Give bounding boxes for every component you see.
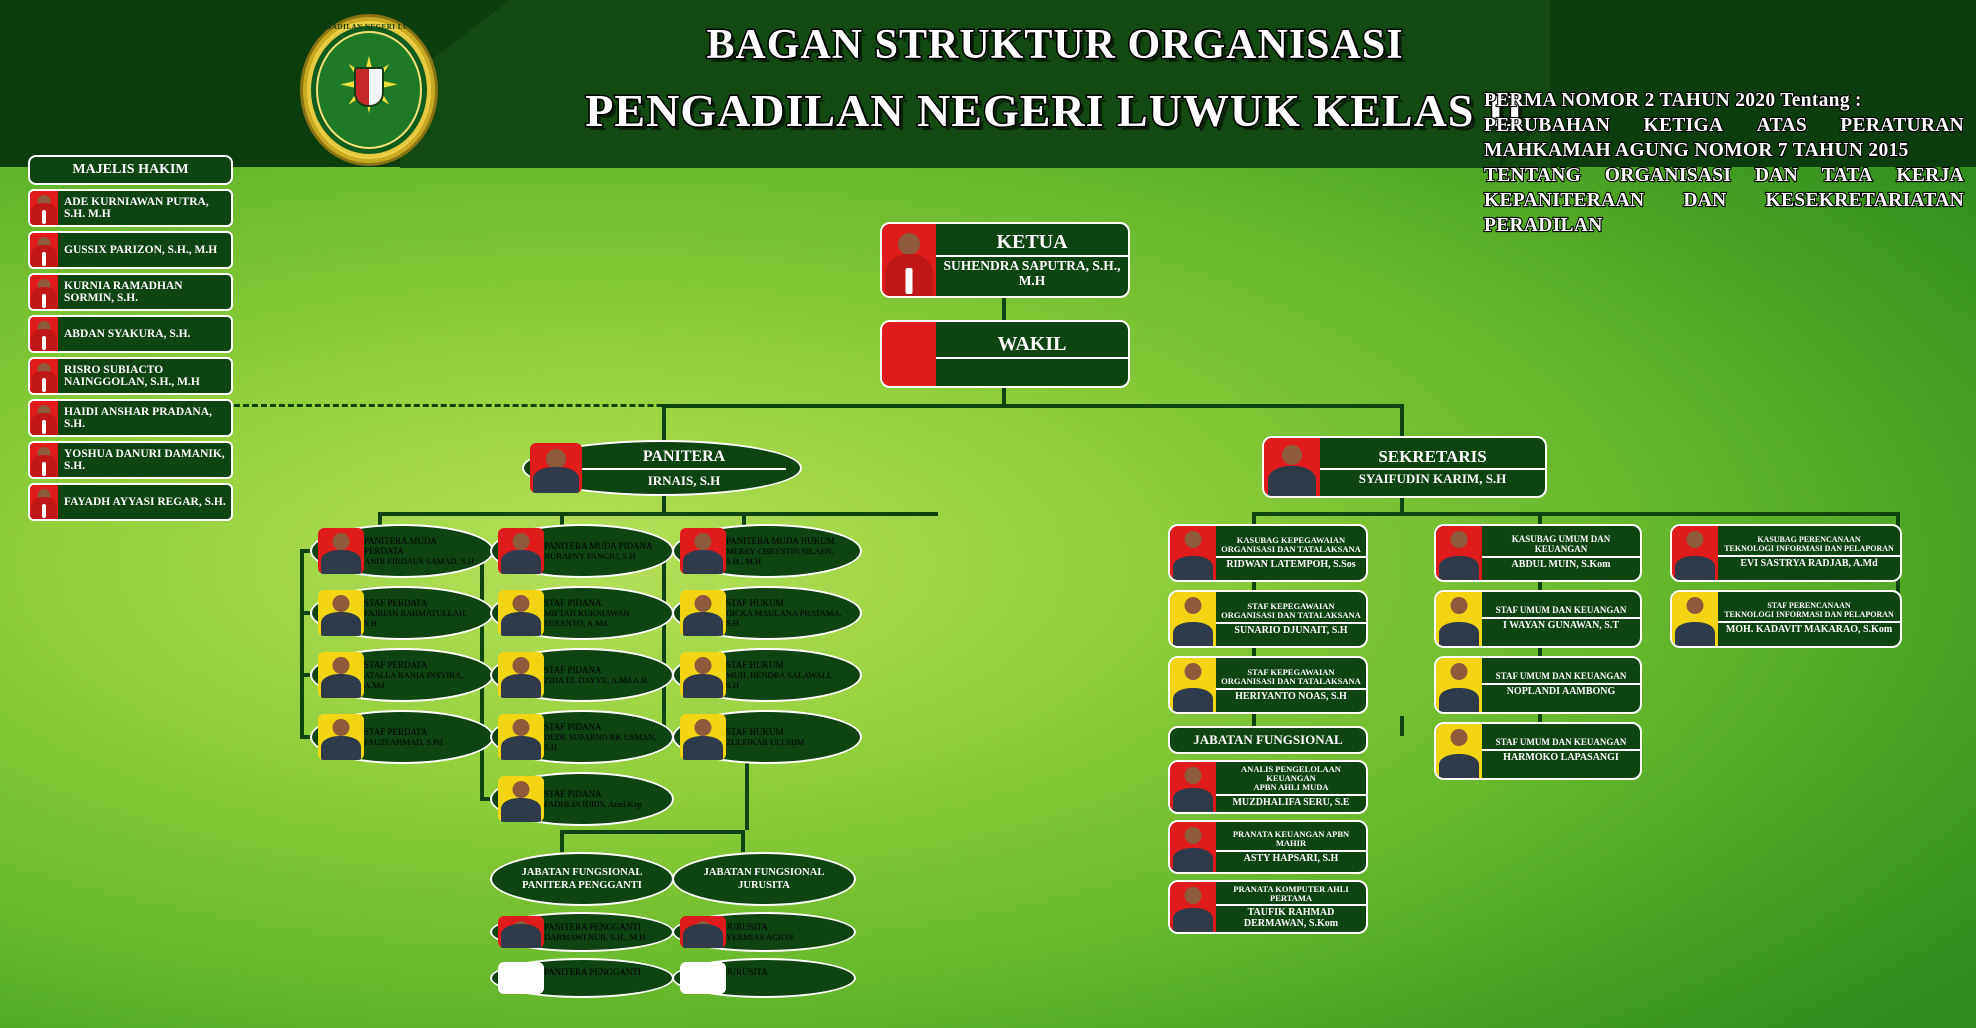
- perma-line-0: PERMA NOMOR 2 TAHUN 2020 Tentang :: [1484, 88, 1964, 113]
- node-name: SUNARIO DJUNAIT, S.H: [1216, 624, 1366, 639]
- node-kepegawaian[interactable]: STAF KEPEGAWAIANORGANISASI DAN TATALAKSA…: [1168, 590, 1368, 648]
- hakim-row[interactable]: FAYADH AYYASI REGAR, S.H.: [28, 483, 233, 521]
- node-umum[interactable]: STAF UMUM DAN KEUANGANHARMOKO LAPASANGI: [1434, 722, 1642, 780]
- ketua-photo: [882, 224, 936, 296]
- column-spine: [300, 551, 304, 737]
- person-photo: [318, 714, 364, 760]
- hakim-row[interactable]: GUSSIX PARIZON, S.H., M.H: [28, 231, 233, 269]
- node-name: FAUZI AHMAD, S.Pd: [364, 737, 478, 747]
- hakim-row[interactable]: ABDAN SYAKURA, S.H.: [28, 315, 233, 353]
- node-role: STAF PERDATA: [364, 727, 478, 737]
- person-photo: [1436, 658, 1482, 712]
- node-role: KASUBAG UMUM DAN KEUANGAN: [1482, 533, 1640, 558]
- node-name: NURAFNY PANGIU, S.H: [544, 551, 658, 561]
- node-role: STAF PIDANA: [544, 665, 658, 675]
- logo-top-text: PENGADILAN NEGERI LUWUK: [300, 23, 438, 31]
- line-to-panitera: [662, 404, 666, 440]
- person-photo: [498, 714, 544, 760]
- node-name: HARMOKO LAPASANGI: [1482, 751, 1640, 766]
- node-name: FAJRIAN RAHMATULLAH, S.H: [364, 608, 478, 628]
- perma-line-5: PERADILAN: [1484, 213, 1964, 238]
- perma-line-1: PERUBAHANKETIGAATASPERATURAN: [1484, 113, 1964, 138]
- node-role: STAF PIDANA: [544, 789, 658, 799]
- hakim-photo: [30, 317, 58, 351]
- node-role: STAF PERDATA: [364, 660, 478, 670]
- node-name: MIFTAH KURNIAWAN SUSANTO, A.Md.: [544, 608, 658, 628]
- jabatan-fungsional-jurusita-title: JABATAN FUNGSIONALJURUSITA: [704, 866, 825, 892]
- node-name: I WAYAN GUNAWAN, S.T: [1482, 619, 1640, 634]
- node-name: HERIYANTO NOAS, S.H: [1216, 690, 1366, 705]
- hakim-photo: [30, 443, 58, 477]
- person-photo: [1170, 592, 1216, 646]
- hakim-name: YOSHUA DANURI DAMANIK, S.H.: [58, 443, 231, 477]
- node-pidana[interactable]: STAF PIDANADEDE SUPARNO RK USMAN, S.H: [490, 710, 674, 764]
- jabatan-fungsional-header: JABATAN FUNGSIONAL: [1168, 726, 1368, 754]
- perma-regulation-text: PERMA NOMOR 2 TAHUN 2020 Tentang : PERUB…: [1484, 88, 1964, 238]
- hakim-name: ABDAN SYAKURA, S.H.: [58, 317, 231, 351]
- hakim-name: RISRO SUBIACTO NAINGGOLAN, S.H., M.H: [58, 359, 231, 393]
- person-photo: [1672, 526, 1718, 580]
- hakim-row[interactable]: RISRO SUBIACTO NAINGGOLAN, S.H., M.H: [28, 357, 233, 395]
- hakim-row[interactable]: HAIDI ANSHAR PRADANA, S.H.: [28, 399, 233, 437]
- node-name: NOPLANDI AAMBONG: [1482, 685, 1640, 700]
- node-hukum[interactable]: STAF HUKUMZULFIKAR ULUHIM: [672, 710, 862, 764]
- node-name: ZULFIKAR ULUHIM: [726, 737, 846, 747]
- line-fungsional-js: [741, 830, 745, 852]
- person-photo: [680, 590, 726, 636]
- person-photo: [498, 916, 544, 948]
- line-horizontal-main: [662, 404, 1404, 408]
- hakim-name: FAYADH AYYASI REGAR, S.H.: [58, 485, 231, 519]
- node-role: JURUSITA: [726, 922, 840, 932]
- node-role: STAF UMUM DAN KEUANGAN: [1482, 736, 1640, 751]
- node-perencanaan[interactable]: STAF PERENCANAANTEKNOLOGI INFORMASI DAN …: [1670, 590, 1902, 648]
- node-kepegawaian[interactable]: KASUBAG KEPEGAWAIANORGANISASI DAN TATALA…: [1168, 524, 1368, 582]
- node-name: TAUFIK RAHMAD DERMAWAN, S.Kom: [1216, 906, 1366, 931]
- ketua-name: SUHENDRA SAPUTRA, S.H., M.H: [936, 257, 1128, 289]
- line-fungsional-sek-join: [1400, 716, 1404, 736]
- person-photo: [680, 528, 726, 574]
- node-name: DARMAWI NUR, S.H., M.H.: [544, 932, 658, 942]
- node-role: JURUSITA: [726, 967, 840, 977]
- person-photo: [1436, 592, 1482, 646]
- node-role: PANITERA MUDA HUKUM: [726, 536, 846, 546]
- node-name: [726, 977, 840, 989]
- node-name: MOH. KADAVIT MAKARAO, S.Kom: [1718, 623, 1900, 638]
- person-photo: [498, 776, 544, 822]
- node-ketua[interactable]: KETUA SUHENDRA SAPUTRA, S.H., M.H: [880, 222, 1130, 298]
- perma-line-3: TENTANGORGANISASIDANTATAKERJA: [1484, 163, 1964, 188]
- line-ketua-wakil: [1002, 298, 1006, 320]
- node-role: KASUBAG PERENCANAANTEKNOLOGI INFORMASI D…: [1718, 534, 1900, 557]
- person-photo: [1170, 658, 1216, 712]
- hakim-photo: [30, 485, 58, 519]
- line-fungsional-pp: [560, 830, 564, 852]
- wakil-role: WAKIL: [936, 332, 1128, 359]
- person-photo: [1436, 526, 1482, 580]
- node-role: PANITERA MUDA PIDANA: [544, 541, 658, 551]
- person-photo: [1436, 724, 1482, 778]
- node-name: FADHLIA IDRIS, Amd.Kep: [544, 799, 658, 809]
- panitera-role: PANITERA: [582, 448, 786, 470]
- node-jabatan-fungsional[interactable]: ANALIS PENGELOLAAN KEUANGANAPBN AHLI MUD…: [1168, 760, 1368, 814]
- jabatan-fungsional-pp-title: JABATAN FUNGSIONALPANITERA PENGGANTI: [522, 866, 643, 892]
- sekretaris-photo: [1264, 438, 1320, 496]
- sekretaris-role: SEKRETARIS: [1320, 446, 1545, 470]
- node-role: STAF KEPEGAWAIANORGANISASI DAN TATALAKSA…: [1216, 666, 1366, 690]
- node-name: RIDWAN LATEMPOH, S.Sos: [1216, 558, 1366, 573]
- node-name: YERMIAS AGION: [726, 932, 840, 942]
- node-role: STAF KEPEGAWAIANORGANISASI DAN TATALAKSA…: [1216, 600, 1366, 624]
- person-photo: [498, 652, 544, 698]
- node-role: PANITERA PENGGANTI: [544, 922, 658, 932]
- node-jabatan-fungsional[interactable]: PRANATA KEUANGAN APBN MAHIRASTY HAPSARI,…: [1168, 820, 1368, 874]
- perma-line-4: KEPANITERAANDANKESEKRETARIATAN: [1484, 188, 1964, 213]
- node-role: STAF HUKUM: [726, 727, 846, 737]
- person-photo: [1170, 526, 1216, 580]
- line-fungsional-bus: [560, 830, 745, 834]
- node-perdata[interactable]: STAF PERDATAFAUZI AHMAD, S.Pd: [310, 710, 494, 764]
- node-name: ZIDA EL DAYYE, A.Md.A.B.: [544, 675, 658, 685]
- person-photo: [318, 528, 364, 574]
- node-pidana[interactable]: PANITERA MUDA PIDANANURAFNY PANGIU, S.H: [490, 524, 674, 578]
- node-wakil[interactable]: WAKIL: [880, 320, 1130, 388]
- line-sekretaris-bus: [1252, 512, 1900, 516]
- court-logo: ✷ PENGADILAN NEGERI LUWUK: [300, 14, 438, 166]
- node-perdata[interactable]: STAF PERDATAFAJRIAN RAHMATULLAH, S.H: [310, 586, 494, 640]
- hakim-photo: [30, 401, 58, 435]
- node-role: PRANATA KOMPUTER AHLI PERTAMA: [1216, 883, 1366, 907]
- node-sekretaris[interactable]: SEKRETARIS SYAIFUDIN KARIM, S.H: [1262, 436, 1547, 498]
- node-name: MERRY CHRYSTIN SILAEN, S.H., M.H: [726, 546, 846, 566]
- node-role: STAF PIDANA: [544, 598, 658, 608]
- line-to-sekretaris: [1400, 404, 1404, 440]
- line-panitera-bus: [378, 512, 938, 516]
- jabatan-fungsional-jurusita-header: JABATAN FUNGSIONALJURUSITA: [672, 852, 856, 906]
- panitera-photo: [530, 443, 582, 493]
- logo-shield-icon: [354, 67, 384, 107]
- jabatan-fungsional-jurusita-member[interactable]: JURUSITAYERMIAS AGION: [672, 912, 856, 952]
- node-name: ATALLA RANIA INSYIRA, A.Md: [364, 670, 478, 690]
- jabatan-fungsional-pp-member[interactable]: PANITERA PENGGANTI: [490, 958, 674, 998]
- person-photo: [318, 652, 364, 698]
- column-spine: [662, 551, 666, 737]
- node-umum[interactable]: STAF UMUM DAN KEUANGANNOPLANDI AAMBONG: [1434, 656, 1642, 714]
- majelis-hakim-panel: MAJELIS HAKIM ADE KURNIAWAN PUTRA, S.H. …: [28, 155, 233, 525]
- hakim-photo: [30, 191, 58, 225]
- ketua-role: KETUA: [936, 230, 1128, 257]
- node-panitera[interactable]: PANITERA IRNAIS, S.H: [522, 440, 802, 496]
- jabatan-fungsional-jurusita-member[interactable]: JURUSITA: [672, 958, 856, 998]
- person-photo: [680, 714, 726, 760]
- node-hukum[interactable]: STAF HUKUMMUH. HENDRA SALAWALI, S.H: [672, 648, 862, 702]
- hakim-name: HAIDI ANSHAR PRADANA, S.H.: [58, 401, 231, 435]
- node-name: ANDI FIRDAUS SAMAD, S.H: [364, 556, 478, 566]
- hakim-photo: [30, 275, 58, 309]
- node-role: STAF UMUM DAN KEUANGAN: [1482, 670, 1640, 685]
- node-perencanaan[interactable]: KASUBAG PERENCANAANTEKNOLOGI INFORMASI D…: [1670, 524, 1902, 582]
- node-role: STAF PIDANA: [544, 722, 658, 732]
- majelis-hakim-title: MAJELIS HAKIM: [28, 155, 233, 185]
- node-name: DICKA MAULANA PRATAMA, S.H: [726, 608, 846, 628]
- hakim-photo: [30, 233, 58, 267]
- node-kepegawaian[interactable]: STAF KEPEGAWAIANORGANISASI DAN TATALAKSA…: [1168, 656, 1368, 714]
- node-role: STAF PERENCANAANTEKNOLOGI INFORMASI DAN …: [1718, 600, 1900, 623]
- node-role: STAF HUKUM: [726, 598, 846, 608]
- node-name: ASTY HAPSARI, S.H: [1216, 852, 1366, 867]
- hakim-photo: [30, 359, 58, 393]
- person-photo: [498, 962, 544, 994]
- person-photo: [680, 652, 726, 698]
- hakim-row[interactable]: ADE KURNIAWAN PUTRA, S.H. M.H: [28, 189, 233, 227]
- jabatan-fungsional-title: JABATAN FUNGSIONAL: [1170, 732, 1366, 748]
- node-name: ABDUL MUIN, S.Kom: [1482, 558, 1640, 573]
- node-name: [544, 977, 658, 989]
- node-role: STAF PERDATA: [364, 598, 478, 608]
- person-photo: [498, 528, 544, 574]
- line-panitera-down-fungsional: [745, 760, 749, 830]
- person-photo: [1170, 882, 1216, 932]
- node-umum[interactable]: STAF UMUM DAN KEUANGANI WAYAN GUNAWAN, S…: [1434, 590, 1642, 648]
- hakim-row[interactable]: KURNIA RAMADHAN SORMIN, S.H.: [28, 273, 233, 311]
- node-hukum[interactable]: STAF HUKUMDICKA MAULANA PRATAMA, S.H: [672, 586, 862, 640]
- node-jabatan-fungsional[interactable]: PRANATA KOMPUTER AHLI PERTAMATAUFIK RAHM…: [1168, 880, 1368, 934]
- perma-line-2: MAHKAMAH AGUNG NOMOR 7 TAHUN 2015: [1484, 138, 1964, 163]
- node-name: DEDE SUPARNO RK USMAN, S.H: [544, 732, 658, 752]
- wakil-photo-empty: [882, 322, 936, 386]
- person-photo: [680, 916, 726, 948]
- node-role: PANITERA MUDA PERDATA: [364, 536, 478, 556]
- jabatan-fungsional-pp-header: JABATAN FUNGSIONALPANITERA PENGGANTI: [490, 852, 674, 906]
- person-photo: [680, 962, 726, 994]
- node-name: MUH. HENDRA SALAWALI, S.H: [726, 670, 846, 690]
- wakil-name: [936, 359, 1128, 377]
- node-role: PRANATA KEUANGAN APBN MAHIR: [1216, 828, 1366, 852]
- node-role: PANITERA PENGGANTI: [544, 967, 658, 977]
- person-photo: [1170, 822, 1216, 872]
- person-photo: [318, 590, 364, 636]
- node-pidana[interactable]: STAF PIDANAFADHLIA IDRIS, Amd.Kep: [490, 772, 674, 826]
- node-perdata[interactable]: PANITERA MUDA PERDATAANDI FIRDAUS SAMAD,…: [310, 524, 494, 578]
- node-name: MUZDHALIFA SERU, S.E: [1216, 796, 1366, 811]
- node-pidana[interactable]: STAF PIDANAMIFTAH KURNIAWAN SUSANTO, A.M…: [490, 586, 674, 640]
- hakim-name: GUSSIX PARIZON, S.H., M.H: [58, 233, 231, 267]
- node-role: STAF UMUM DAN KEUANGAN: [1482, 604, 1640, 619]
- page-title: BAGAN STRUKTUR ORGANISASI PENGADILAN NEG…: [560, 16, 1550, 142]
- node-hukum[interactable]: PANITERA MUDA HUKUMMERRY CHRYSTIN SILAEN…: [672, 524, 862, 578]
- person-photo: [498, 590, 544, 636]
- hakim-name: KURNIA RAMADHAN SORMIN, S.H.: [58, 275, 231, 309]
- person-photo: [1170, 762, 1216, 812]
- node-umum[interactable]: KASUBAG UMUM DAN KEUANGANABDUL MUIN, S.K…: [1434, 524, 1642, 582]
- node-pidana[interactable]: STAF PIDANAZIDA EL DAYYE, A.Md.A.B.: [490, 648, 674, 702]
- node-name: EVI SASTRYA RADJAB, A.Md: [1718, 557, 1900, 572]
- panitera-name: IRNAIS, S.H: [582, 470, 786, 489]
- jabatan-fungsional-pp-member[interactable]: PANITERA PENGGANTIDARMAWI NUR, S.H., M.H…: [490, 912, 674, 952]
- hakim-name: ADE KURNIAWAN PUTRA, S.H. M.H: [58, 191, 231, 225]
- node-role: STAF HUKUM: [726, 660, 846, 670]
- sekretaris-name: SYAIFUDIN KARIM, S.H: [1320, 470, 1545, 488]
- person-photo: [1672, 592, 1718, 646]
- node-role: KASUBAG KEPEGAWAIANORGANISASI DAN TATALA…: [1216, 534, 1366, 558]
- title-line-1: BAGAN STRUKTUR ORGANISASI: [560, 16, 1550, 74]
- hakim-row[interactable]: YOSHUA DANURI DAMANIK, S.H.: [28, 441, 233, 479]
- title-line-2: PENGADILAN NEGERI LUWUK KELAS II: [560, 80, 1550, 142]
- node-role: ANALIS PENGELOLAAN KEUANGANAPBN AHLI MUD…: [1216, 763, 1366, 796]
- node-perdata[interactable]: STAF PERDATAATALLA RANIA INSYIRA, A.Md: [310, 648, 494, 702]
